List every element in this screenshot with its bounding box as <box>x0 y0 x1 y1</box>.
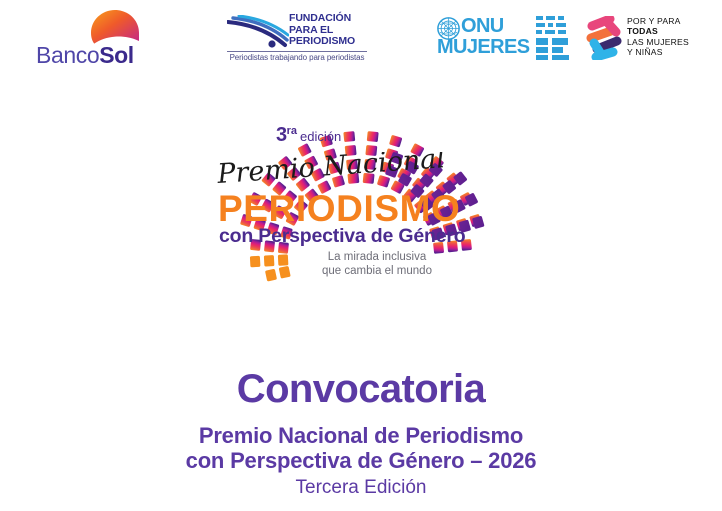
bancosol-word-banco: Banco <box>36 42 99 68</box>
page-subtitle: Premio Nacional de Periodismo con Perspe… <box>0 423 722 473</box>
wordmark-periodismo: PERIODISMO <box>218 190 498 228</box>
fpp-line-3: PERIODISMO <box>289 36 369 48</box>
page-title: Convocatoria <box>0 366 722 412</box>
logo-por-y-para-todas: POR Y PARA TODAS LAS MUJERES Y NIÑAS <box>586 14 698 64</box>
fpp-line-1: FUNDACIÓN <box>289 13 369 25</box>
award-emblem: 3raedición Premio Nacional PERIODISMO co… <box>206 104 516 349</box>
fpp-wordmark: FUNDACIÓN PARA EL PERIODISMO <box>289 13 369 48</box>
pypt-line-2: TODAS <box>627 26 658 36</box>
logo-fundacion-periodismo: FUNDACIÓN PARA EL PERIODISMO Periodistas… <box>227 13 367 71</box>
fpp-divider <box>227 51 367 52</box>
edition-badge: 3raedición <box>276 124 396 147</box>
pinwheel-icon <box>586 16 622 60</box>
emblem-text-block: 3raedición Premio Nacional PERIODISMO co… <box>206 104 516 349</box>
pypt-line-3: LAS MUJERES <box>627 37 699 47</box>
onu-grid-icon <box>536 16 574 60</box>
pypt-wordmark: POR Y PARA TODAS LAS MUJERES Y NIÑAS <box>627 16 699 58</box>
emblem-tagline-line-2: que cambia el mundo <box>302 265 452 279</box>
fpp-swoosh-icon <box>227 15 289 49</box>
onu-line-2: MUJERES <box>437 37 530 58</box>
bancosol-sun-icon <box>91 10 139 44</box>
page-edition-label: Tercera Edición <box>0 477 722 499</box>
header-logo-bar: BancoSol FUNDACIÓN PARA EL PERIODISMO Pe… <box>0 0 722 92</box>
onu-line-1: ONU <box>461 16 504 37</box>
logo-onu-mujeres: ONU MUJERES <box>437 16 574 64</box>
fpp-tagline: Periodistas trabajando para periodistas <box>227 53 367 62</box>
bancosol-word-sol: Sol <box>99 42 134 68</box>
edition-number: 3 <box>276 124 287 146</box>
logo-bancosol: BancoSol <box>36 10 161 68</box>
script-title-text: Premio Nacional <box>216 152 446 190</box>
edition-word: edición <box>300 129 341 144</box>
edition-ordinal-suffix: ra <box>287 125 297 137</box>
page-subtitle-line-2: con Perspectiva de Género – 2026 <box>0 448 722 473</box>
page-subtitle-line-1: Premio Nacional de Periodismo <box>0 423 722 448</box>
pypt-line-1: POR Y PARA <box>627 16 699 26</box>
subtitle-con-perspectiva: con Perspectiva de Género <box>219 226 499 247</box>
pypt-line-4: Y NIÑAS <box>627 47 699 57</box>
bancosol-wordmark: BancoSol <box>36 43 161 68</box>
emblem-tagline: La mirada inclusiva que cambia el mundo <box>302 251 452 278</box>
emblem-tagline-line-1: La mirada inclusiva <box>302 251 452 265</box>
